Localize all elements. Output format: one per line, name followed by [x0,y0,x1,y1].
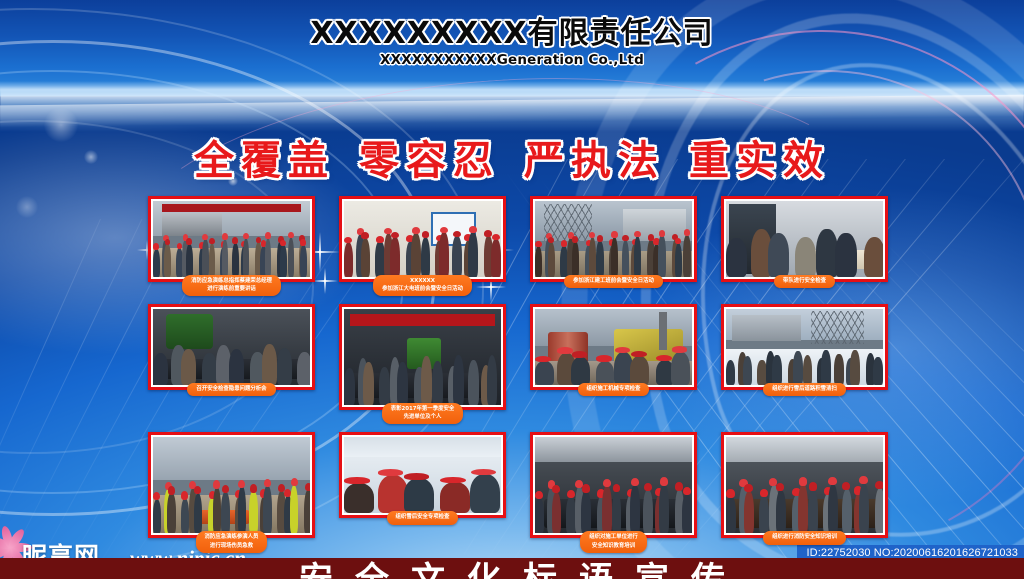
photo-image-snow-inspection [344,437,501,513]
footer-strip: 安全文化标语宣传 [0,558,1024,579]
photo-caption: 组织进行雪后道路积雪清扫 [763,383,846,396]
slogan-part-4: 重实效 [689,128,830,186]
photo-frame [148,432,315,538]
photo-cell-1-4[interactable]: 带队进行安全检查 [721,196,888,296]
photo-image-training-hall [535,437,692,533]
photo-image-outdoor-site-assembly [535,201,692,277]
photo-cell-2-4[interactable]: 组织进行雪后道路积雪清扫 [721,304,888,424]
photo-frame [530,304,697,390]
photo-frame [339,304,506,410]
photo-frame [148,304,315,390]
bokeh-dot-4 [16,196,38,218]
photo-image-snow-clearing [726,309,883,385]
photo-row: 消防应急演练参演人员 进行现场伤员急救组织雪后安全专项检查组织对施工单位进行 安… [148,432,888,552]
photo-image-award-ceremony [344,309,501,405]
photo-caption: 召开安全检查隐患问题分析会 [187,383,275,396]
photo-frame [721,196,888,282]
poster-canvas: XXXXXXXXX有限责任公司 XXXXXXXXXXXGeneration Co… [0,0,1024,579]
main-slogan: 全覆盖零容忍严执法重实效 [0,128,1024,186]
photo-cell-2-2[interactable]: 表彰2017年第一季度安全 先进单位及个人 [339,304,506,424]
photo-grid: 消防应急演练总指挥蔡建荣总经理 进行演练前重要讲话XXXXXX 参加浙江大电班前… [148,196,888,561]
photo-image-fire-safety-training [726,437,883,533]
photo-cell-2-1[interactable]: 召开安全检查隐患问题分析会 [148,304,315,424]
photo-frame [148,196,315,282]
photo-cell-1-1[interactable]: 消防应急演练总指挥蔡建荣总经理 进行演练前重要讲话 [148,196,315,296]
photo-cell-3-2[interactable]: 组织雪后安全专项检查 [339,432,506,552]
photo-caption: 组织施工机械专项检查 [578,383,650,396]
photo-frame [339,196,506,282]
company-name-cn: XXXXXXXXX有限责任公司 [0,18,1024,50]
photo-caption: 组织进行消防安全知识培训 [763,531,846,544]
photo-caption: 表彰2017年第一季度安全 先进单位及个人 [382,403,464,424]
slogan-part-2: 零容忍 [359,128,500,186]
photo-caption: 带队进行安全检查 [774,275,835,288]
photo-image-conference-table [153,309,310,385]
photo-image-office-inspection [726,201,883,277]
photo-row: 召开安全检查隐患问题分析会表彰2017年第一季度安全 先进单位及个人组织施工机械… [148,304,888,424]
photo-frame [721,432,888,538]
photo-image-machinery-inspection [535,309,692,385]
photo-cell-1-3[interactable]: 参加浙江建工班前会暨安全日活动 [530,196,697,296]
photo-cell-2-3[interactable]: 组织施工机械专项检查 [530,304,697,424]
footer-title-partial: 安全文化标语宣传 [0,558,1024,579]
photo-cell-3-3[interactable]: 组织对施工单位进行 安全知识教育培训 [530,432,697,552]
photo-caption: 消防应急演练参演人员 进行现场伤员急救 [196,531,268,552]
photo-cell-3-1[interactable]: 消防应急演练参演人员 进行现场伤员急救 [148,432,315,552]
photo-frame [530,432,697,538]
company-name-en: XXXXXXXXXXXGeneration Co.,Ltd [0,52,1024,68]
photo-cell-1-2[interactable]: XXXXXX 参加浙江大电班前会暨安全日活动 [339,196,506,296]
photo-row: 消防应急演练总指挥蔡建荣总经理 进行演练前重要讲话XXXXXX 参加浙江大电班前… [148,196,888,296]
photo-image-first-aid-drill [153,437,310,533]
photo-caption: 组织对施工单位进行 安全知识教育培训 [580,531,647,552]
photo-frame [721,304,888,390]
slogan-part-3: 严执法 [524,128,665,186]
photo-frame [530,196,697,282]
slogan-part-1: 全覆盖 [194,128,335,186]
photo-caption: 组织雪后安全专项检查 [387,511,459,524]
photo-image-meeting-helmets [344,201,501,277]
photo-caption: XXXXXX 参加浙江大电班前会暨安全日活动 [373,275,472,296]
poster-header: XXXXXXXXX有限责任公司 XXXXXXXXXXXGeneration Co… [0,18,1024,68]
photo-frame [339,432,506,518]
photo-cell-3-4[interactable]: 组织进行消防安全知识培训 [721,432,888,552]
photo-caption: 参加浙江建工班前会暨安全日活动 [564,275,663,288]
photo-image-drill-assembly [153,201,310,277]
photo-caption: 消防应急演练总指挥蔡建荣总经理 进行演练前重要讲话 [182,275,281,296]
